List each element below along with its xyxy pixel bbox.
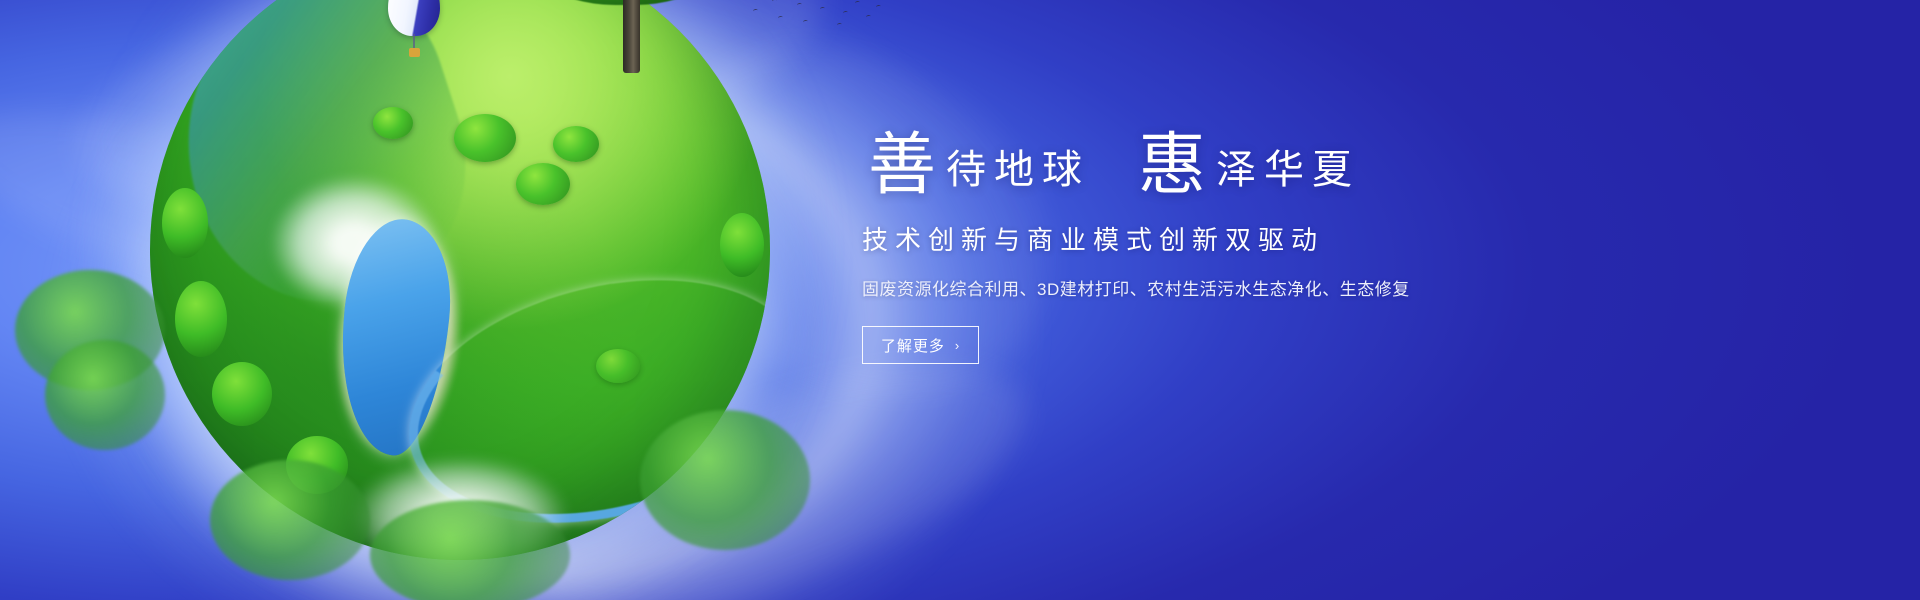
foreground-tree-left-2 <box>45 340 165 450</box>
foreground-tree-bottom <box>210 460 370 580</box>
planet-bush <box>553 126 599 162</box>
balloon-envelope <box>388 0 440 36</box>
learn-more-button[interactable]: 了解更多 › <box>862 326 979 364</box>
hero-headline: 善 待地球 惠 泽华夏 <box>868 128 1562 196</box>
planet-bush <box>454 114 516 162</box>
planet-rim-tree <box>212 362 272 426</box>
planet-rim-tree <box>175 281 227 357</box>
hero-subheadline: 技术创新与商业模式创新双驱动 <box>862 220 1562 257</box>
tree-trunk <box>623 0 640 73</box>
foreground-tree-right <box>640 410 810 550</box>
headline-part2-small: 泽华夏 <box>1206 150 1360 190</box>
headline-part1-small: 待地球 <box>936 150 1090 190</box>
headline-part2-big: 惠 <box>1138 132 1206 200</box>
hero-content: 善 待地球 惠 泽华夏 技术创新与商业模式创新双驱动 固废资源化综合利用、3D建… <box>862 128 1562 364</box>
hero-description: 固废资源化综合利用、3D建材打印、农村生活污水生态净化、生态修复 <box>862 275 1562 300</box>
bird-flock <box>745 0 885 30</box>
chevron-right-icon: › <box>955 339 960 352</box>
balloon-basket <box>409 48 420 57</box>
green-planet-illustration <box>150 0 810 600</box>
learn-more-label: 了解更多 <box>881 335 945 356</box>
headline-part1-big: 善 <box>868 132 936 200</box>
large-tree <box>505 0 745 65</box>
foreground-tree-bottom-2 <box>370 500 570 600</box>
planet-rim-tree <box>720 213 764 277</box>
hot-air-balloon <box>388 0 440 62</box>
hero-banner: 善 待地球 惠 泽华夏 技术创新与商业模式创新双驱动 固废资源化综合利用、3D建… <box>0 0 1920 600</box>
planet-bush <box>516 163 570 205</box>
